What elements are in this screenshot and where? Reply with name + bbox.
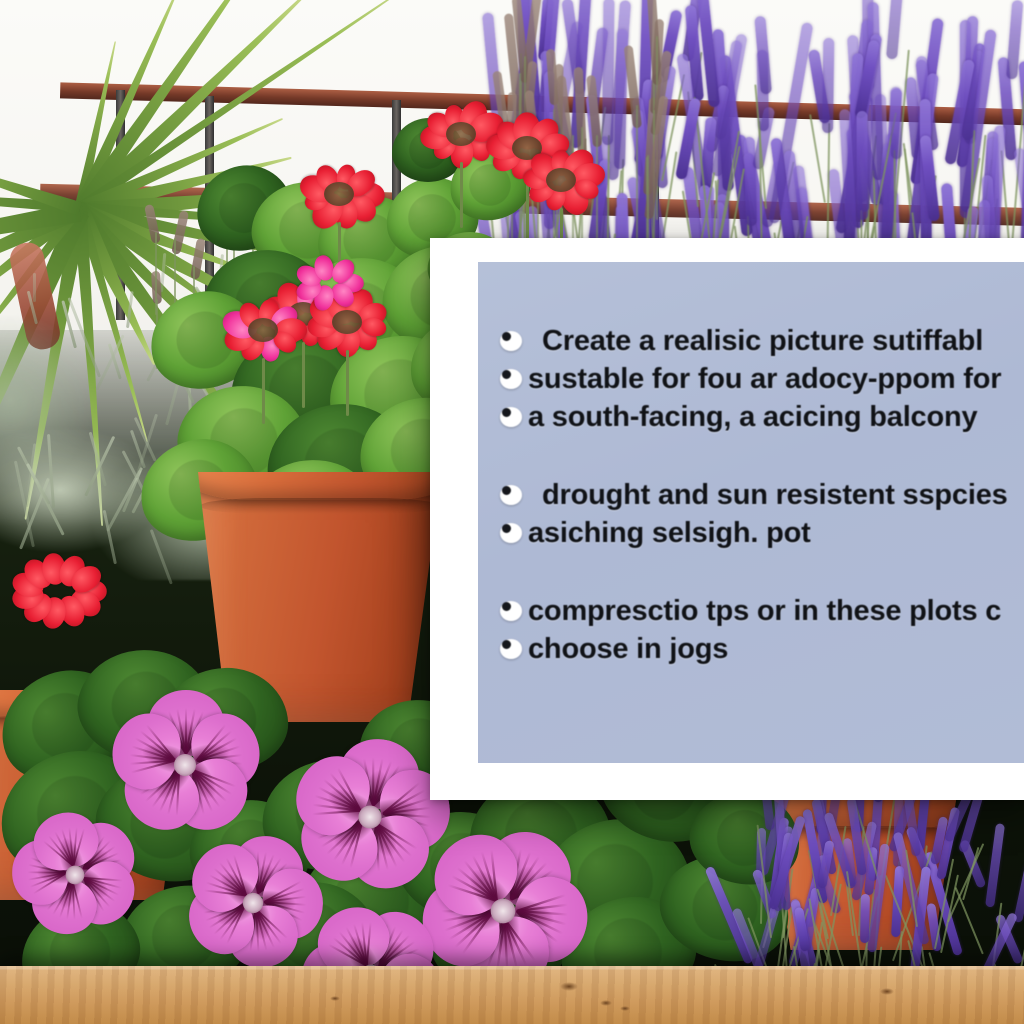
bullet-line: a south-facing, a acicing balcony: [478, 398, 1024, 436]
wood-knot: [560, 982, 578, 991]
prompt-card[interactable]: Create a realisic picture sutiffablsusta…: [430, 238, 1024, 800]
flower-center: [491, 899, 516, 924]
bullet-text: choose in jogs: [528, 632, 728, 666]
bullet-dot-icon: [500, 407, 522, 427]
prompt-card-panel: Create a realisic picture sutiffablsusta…: [478, 262, 1024, 763]
lavender-spike: [985, 824, 1005, 909]
bullet-dot-icon: [500, 601, 522, 621]
bullet-line: sustable for fou ar adocy-ppom for: [478, 360, 1024, 398]
flower-center: [174, 754, 196, 776]
bullet-group-gap: [478, 436, 1024, 476]
bullet-dot-icon: [500, 331, 522, 351]
bullet-text: asiching selsigh. pot: [528, 516, 811, 550]
flower-center: [66, 866, 85, 885]
pelargonium-bloom: [11, 811, 139, 939]
prompt-bullet-list: Create a realisic picture sutiffablsusta…: [478, 322, 1024, 668]
bullet-dot-icon: [500, 523, 522, 543]
bullet-dot-icon: [500, 369, 522, 389]
bullet-line: Create a realisic picture sutiffabl: [478, 322, 1024, 360]
petal-vein: [366, 922, 372, 966]
bullet-dot-icon: [500, 485, 522, 505]
bullet-line: asiching selsigh. pot: [478, 514, 1024, 552]
bullet-text: a south-facing, a acicing balcony: [528, 400, 977, 434]
bullet-dot-icon: [500, 639, 522, 659]
bullet-text: drought and sun resistent sspcies: [528, 478, 1008, 512]
wood-knot: [600, 1000, 612, 1006]
bullet-group-gap: [478, 552, 1024, 592]
wood-knot: [880, 988, 894, 995]
wood-knot: [620, 1006, 630, 1011]
bullet-line: drought and sun resistent sspcies: [478, 476, 1024, 514]
flower-center: [243, 893, 263, 913]
wooden-ledge: [0, 966, 1024, 1024]
screenshot-canvas: Create a realisic picture sutiffablsusta…: [0, 0, 1024, 1024]
bullet-line: compresctio tps or in these plots c: [478, 592, 1024, 630]
flower-center: [358, 805, 381, 828]
bullet-text: sustable for fou ar adocy-ppom for: [528, 362, 1001, 396]
bullet-text: Create a realisic picture sutiffabl: [528, 324, 983, 358]
bullet-text: compresctio tps or in these plots c: [528, 594, 1001, 628]
bullet-line: choose in jogs: [478, 630, 1024, 668]
wood-knot: [330, 996, 340, 1001]
